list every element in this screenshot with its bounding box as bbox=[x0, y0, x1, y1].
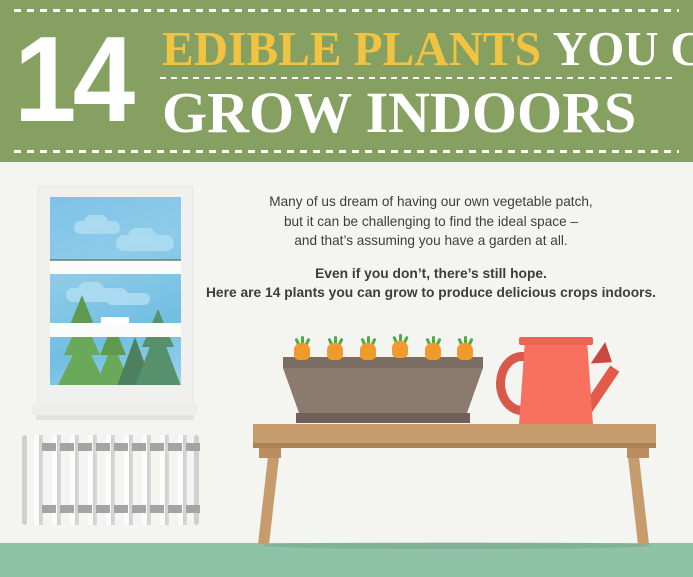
cloud-icon bbox=[84, 215, 108, 230]
radiator-connector bbox=[168, 505, 182, 513]
cloud-icon bbox=[128, 228, 156, 245]
planter-rim bbox=[283, 357, 483, 368]
intro-p1-line-3: and that’s assuming you have a garden at… bbox=[196, 231, 666, 251]
carrot-icon bbox=[456, 336, 474, 360]
carrot-icon bbox=[391, 334, 409, 358]
header-banner: 14 EDIBLE PLANTS YOU CAN GROW INDOORS bbox=[0, 0, 693, 162]
window-rail-lower bbox=[50, 323, 181, 337]
intro-paragraph-1: Many of us dream of having our own veget… bbox=[196, 192, 666, 251]
watering-can-icon bbox=[494, 329, 619, 425]
table-leg-left bbox=[258, 447, 280, 545]
headline-line-2: GROW INDOORS bbox=[162, 84, 636, 142]
planter-box bbox=[283, 357, 483, 425]
table-leg-right bbox=[627, 447, 649, 545]
headline-number: 14 bbox=[14, 18, 131, 140]
window-sill-shadow bbox=[36, 415, 194, 420]
infographic-page: 14 EDIBLE PLANTS YOU CAN GROW INDOORS Ma… bbox=[0, 0, 693, 577]
headline-line-1-tail: YOU CAN bbox=[553, 21, 693, 76]
pine-tree-icon bbox=[70, 295, 94, 325]
radiator-connector bbox=[132, 443, 146, 451]
intro-p2-line-1: Even if you don’t, there’s still hope. bbox=[196, 264, 666, 284]
table-top-shadow bbox=[253, 443, 656, 448]
carrot-icon bbox=[326, 336, 344, 360]
window-glass bbox=[50, 197, 181, 385]
radiator-illustration bbox=[22, 435, 200, 525]
radiator-connector bbox=[78, 443, 92, 451]
radiator-connector bbox=[114, 443, 128, 451]
header-dashed-rule-middle bbox=[160, 77, 675, 79]
table-top bbox=[253, 424, 656, 443]
intro-paragraph-2: Even if you don’t, there’s still hope. H… bbox=[196, 264, 666, 303]
radiator-connector bbox=[150, 505, 164, 513]
intro-copy: Many of us dream of having our own veget… bbox=[196, 192, 666, 303]
radiator-connector bbox=[60, 505, 74, 513]
window-rail-shadow bbox=[50, 259, 181, 261]
radiator-connector bbox=[186, 505, 200, 513]
radiator-connector bbox=[186, 443, 200, 451]
table-shadow bbox=[262, 542, 652, 549]
watering-can-body bbox=[519, 341, 593, 425]
radiator-connector bbox=[42, 443, 56, 451]
carrot-icon bbox=[424, 336, 442, 360]
planter-base bbox=[296, 413, 470, 423]
window-latch-icon[interactable] bbox=[101, 317, 129, 324]
radiator-end-left bbox=[22, 435, 27, 525]
radiator-connector bbox=[114, 505, 128, 513]
radiator-connector bbox=[168, 443, 182, 451]
radiator-connector bbox=[42, 505, 56, 513]
intro-p1-line-1: Many of us dream of having our own veget… bbox=[196, 192, 666, 212]
headline-emphasis: EDIBLE PLANTS bbox=[162, 21, 541, 76]
radiator-connector bbox=[132, 505, 146, 513]
intro-p1-line-2: but it can be challenging to find the id… bbox=[196, 212, 666, 232]
header-dashed-rule-bottom bbox=[14, 150, 679, 153]
radiator-connector bbox=[60, 443, 74, 451]
watering-can-lid bbox=[519, 337, 593, 345]
table-brace-right bbox=[627, 448, 649, 458]
radiator-connector bbox=[96, 443, 110, 451]
table-brace-left bbox=[259, 448, 281, 458]
window-frame bbox=[38, 186, 193, 407]
radiator-connector bbox=[78, 505, 92, 513]
headline-spacer bbox=[541, 21, 553, 76]
planter-body bbox=[283, 368, 483, 413]
intro-p2-line-2: Here are 14 plants you can grow to produ… bbox=[196, 283, 666, 303]
cloud-icon bbox=[106, 293, 150, 305]
carrot-icon bbox=[359, 336, 377, 360]
window-illustration bbox=[38, 186, 198, 426]
radiator-connector bbox=[96, 505, 110, 513]
carrot-icon bbox=[293, 336, 311, 360]
radiator-connector bbox=[150, 443, 164, 451]
window-sill bbox=[32, 404, 198, 415]
headline-line-1: EDIBLE PLANTS YOU CAN bbox=[162, 24, 693, 73]
window-rail-upper bbox=[50, 260, 181, 274]
